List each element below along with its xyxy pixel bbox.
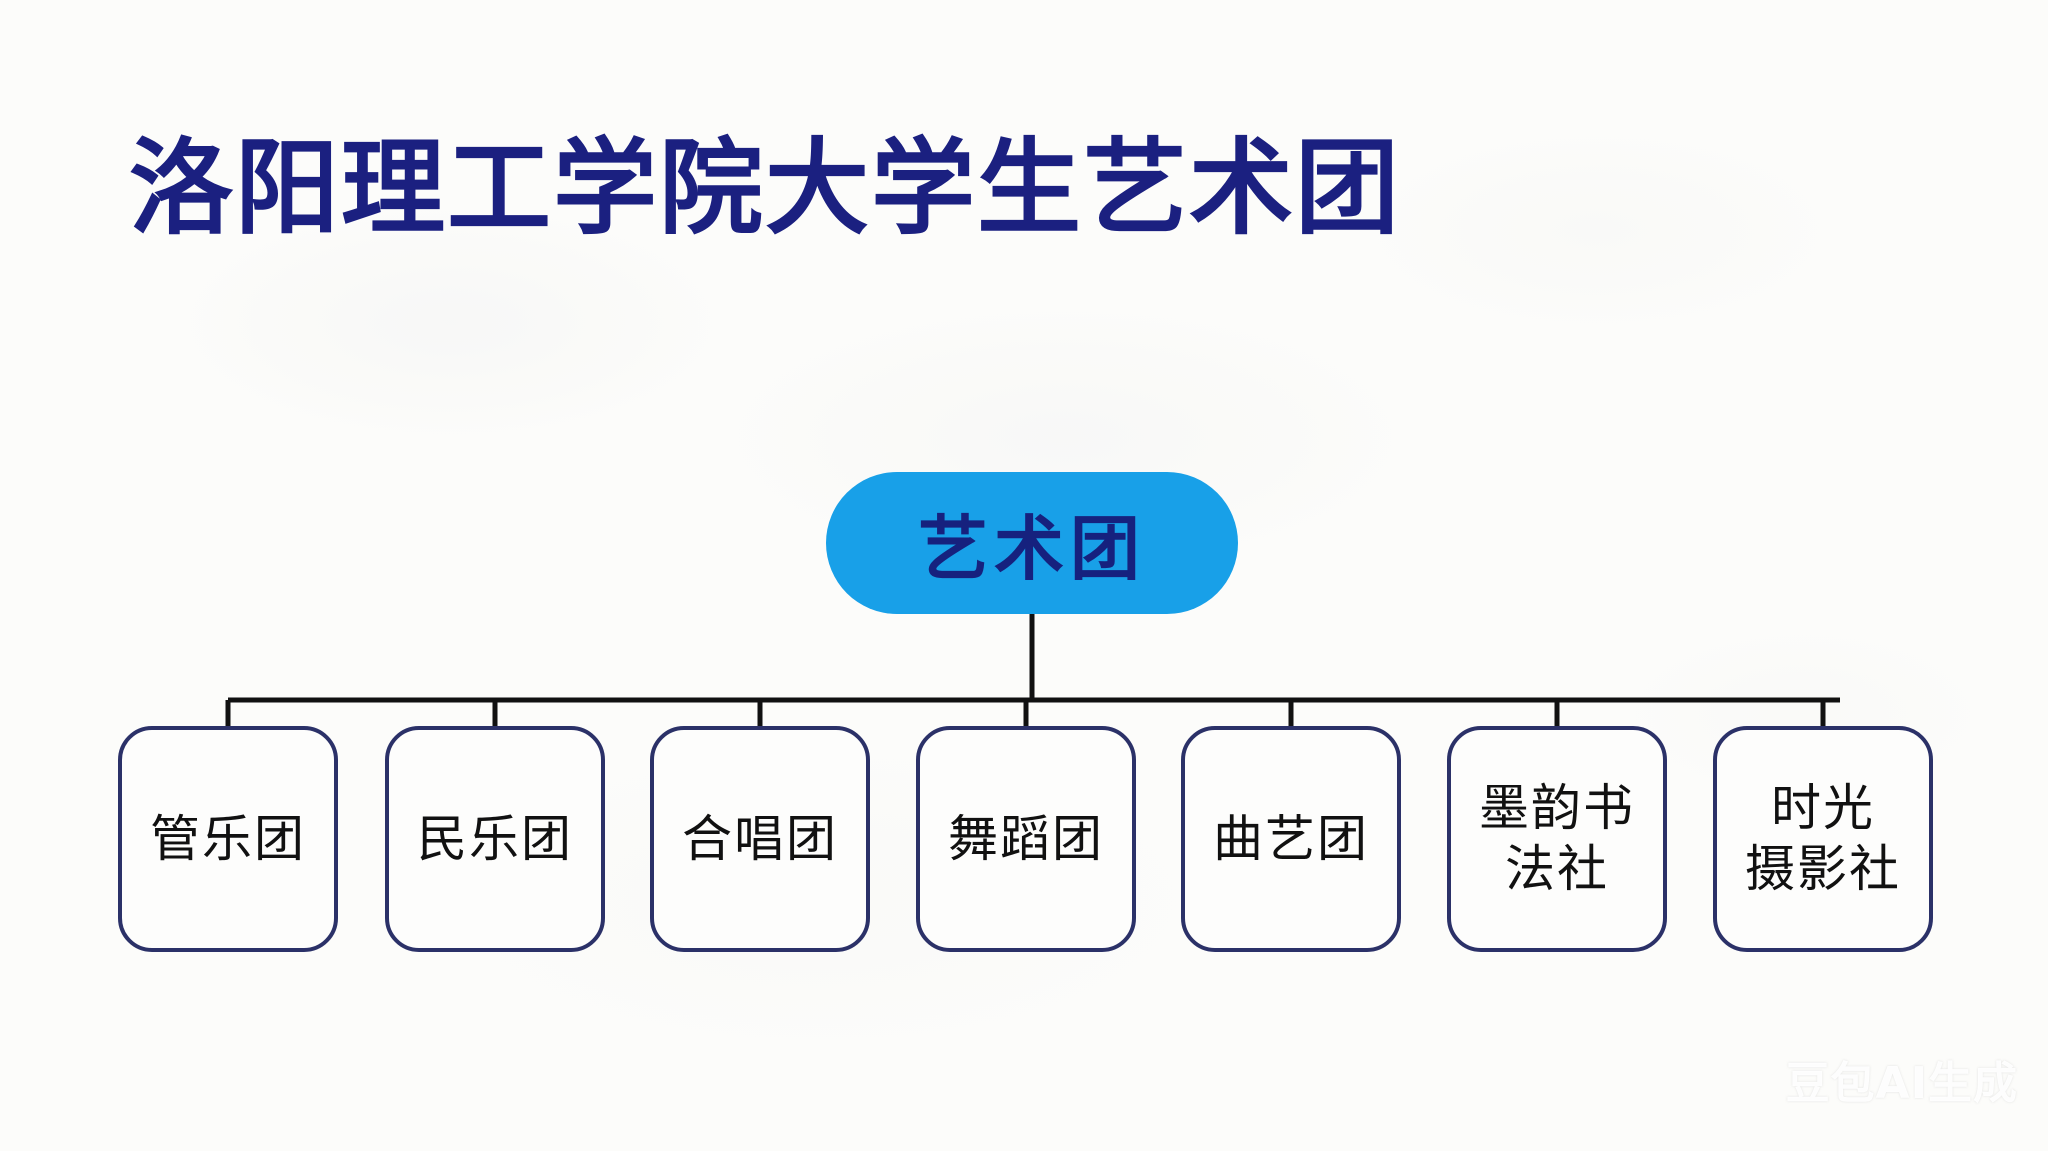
node-photography-club[interactable]: 时光 摄影社 [1713,726,1933,952]
node-root-art-troupe[interactable]: 艺术团 [826,472,1238,614]
node-label: 时光 摄影社 [1745,778,1901,900]
page-title: 洛阳理工学院大学生艺术团 [0,136,1530,240]
node-label: 曲艺团 [1213,809,1369,870]
node-label: 舞蹈团 [948,809,1104,870]
watermark-label: 豆包AI生成 [1786,1047,2018,1111]
node-label: 墨韵书 法社 [1479,778,1635,900]
node-root-label: 艺术团 [918,493,1146,594]
node-label: 民乐团 [417,809,573,870]
node-calligraphy-club[interactable]: 墨韵书 法社 [1447,726,1667,952]
node-label: 管乐团 [150,809,306,870]
node-chorus[interactable]: 合唱团 [650,726,870,952]
node-folk-orchestra[interactable]: 民乐团 [385,726,605,952]
node-label: 合唱团 [682,809,838,870]
node-wind-band[interactable]: 管乐团 [118,726,338,952]
node-quyi-troupe[interactable]: 曲艺团 [1181,726,1401,952]
node-dance-troupe[interactable]: 舞蹈团 [916,726,1136,952]
